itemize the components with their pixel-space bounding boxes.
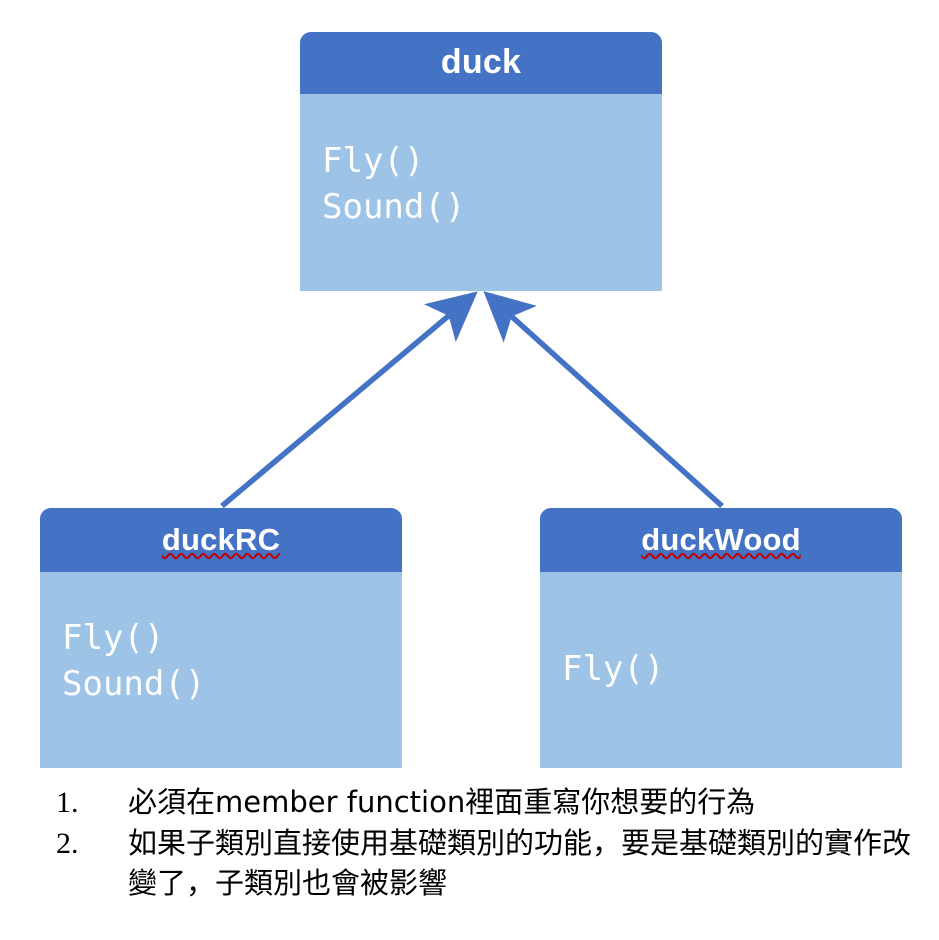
class-name-duckwood: duckWood [641,524,800,557]
connector-duckwood-to-duck [490,297,722,506]
class-box-duckwood[interactable]: duckWood Fly() [540,508,902,768]
notes-list: 1. 必須在member function裡面重寫你想要的行為 2. 如果子類別… [46,782,926,903]
note-text: 如果子類別直接使用基礎類別的功能，要是基礎類別的實作改變了，子類別也會被影響 [128,823,926,903]
class-header-duckrc: duckRC [40,508,402,572]
note-text: 必須在member function裡面重寫你想要的行為 [128,782,926,822]
class-methods-duckwood: Fly() [540,572,902,768]
class-box-duckrc[interactable]: duckRC Fly() Sound() [40,508,402,768]
note-item: 2. 如果子類別直接使用基礎類別的功能，要是基礎類別的實作改變了，子類別也會被影… [46,823,926,903]
class-methods-duckrc: Fly() Sound() [40,572,402,768]
note-marker: 1. [46,782,128,823]
class-methods-duck: Fly() Sound() [300,94,662,291]
class-header-duckwood: duckWood [540,508,902,572]
class-name-duckrc: duckRC [162,524,280,557]
class-box-duck[interactable]: duck Fly() Sound() [300,32,662,291]
connector-duckrc-to-duck [222,297,471,506]
note-item: 1. 必須在member function裡面重寫你想要的行為 [46,782,926,823]
class-diagram: duck Fly() Sound() duckRC Fly() Sound() … [0,0,939,940]
class-header-duck: duck [300,32,662,94]
class-name-duck: duck [441,45,521,81]
note-marker: 2. [46,823,128,864]
